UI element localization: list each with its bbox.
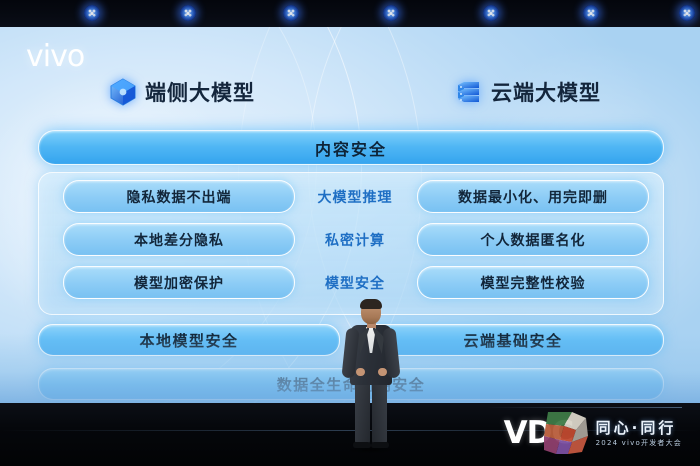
matrix-cell-label: 模型安全	[325, 273, 385, 293]
ceiling-light-icon	[383, 5, 399, 21]
matrix-cell-right: 数据最小化、用完即删	[417, 180, 649, 213]
matrix-cell-middle: 大模型推理	[301, 181, 409, 212]
matrix-cell-middle: 私密计算	[301, 224, 409, 255]
capability-matrix-panel: 隐私数据不出端 大模型推理 数据最小化、用完即删 本地差分隐私 私密计算 个人数…	[38, 172, 664, 315]
vivo-logo: vivo	[26, 42, 84, 72]
logo-divider	[486, 407, 682, 408]
matrix-cell-label: 私密计算	[325, 230, 385, 250]
matrix-cell-label: 本地差分隐私	[134, 230, 224, 250]
presenter-leg	[355, 382, 370, 444]
presenter-leg	[372, 382, 387, 444]
matrix-row: 本地差分隐私 私密计算 个人数据匿名化	[39, 224, 663, 255]
cube-icon	[110, 78, 136, 106]
matrix-cell-label: 个人数据匿名化	[481, 230, 586, 250]
content-safety-banner: 内容安全	[38, 130, 664, 165]
presenter-hair	[360, 299, 382, 309]
matrix-row: 隐私数据不出端 大模型推理 数据最小化、用完即删	[39, 181, 663, 212]
matrix-row: 模型加密保护 模型安全 模型完整性校验	[39, 267, 663, 298]
vdc-color-blob-icon	[542, 410, 588, 456]
presenter-shoe	[353, 442, 371, 448]
header-title-cloud: 云端大模型	[491, 77, 601, 107]
matrix-cell-left: 模型加密保护	[63, 266, 295, 299]
presenter-shoe	[371, 442, 389, 448]
matrix-cell-label: 数据最小化、用完即删	[458, 187, 608, 207]
ceiling-light-icon	[84, 5, 100, 21]
ceiling-light-icon	[283, 5, 299, 21]
ceiling-light-icon	[180, 5, 196, 21]
header-on-device: 端侧大模型	[110, 77, 255, 107]
matrix-cell-label: 模型完整性校验	[481, 273, 586, 293]
matrix-cell-left: 本地差分隐私	[63, 223, 295, 256]
matrix-cell-label: 隐私数据不出端	[127, 187, 232, 207]
header-title-on-device: 端侧大模型	[145, 77, 255, 107]
presenter-hand	[356, 368, 365, 376]
ceiling-light-icon	[583, 5, 599, 21]
matrix-cell-label: 大模型推理	[318, 187, 393, 207]
header-cloud: 云端大模型	[455, 77, 601, 107]
content-safety-label: 内容安全	[315, 136, 387, 160]
matrix-cell-right: 模型完整性校验	[417, 266, 649, 299]
ceiling-light-icon	[679, 5, 695, 21]
event-subtitle: 2024 vivo开发者大会	[596, 440, 682, 447]
event-logo-text: 同心·同行 2024 vivo开发者大会	[596, 421, 682, 447]
ceiling-light-icon	[483, 5, 499, 21]
server-icon	[455, 79, 482, 106]
event-logo: VDC 同心·同行 2024 vivo开发者大会	[504, 410, 682, 458]
matrix-cell-right: 个人数据匿名化	[417, 223, 649, 256]
ceiling-strip	[0, 0, 700, 27]
matrix-cell-middle: 模型安全	[301, 267, 409, 298]
matrix-cell-left: 隐私数据不出端	[63, 180, 295, 213]
presenter	[342, 300, 400, 450]
stage-photo: vivo 端侧大模型	[0, 0, 700, 466]
vdc-mark: VDC	[504, 412, 590, 456]
event-slogan: 同心·同行	[596, 421, 682, 436]
presenter-hand	[378, 368, 387, 376]
matrix-cell-label: 模型加密保护	[134, 273, 224, 293]
